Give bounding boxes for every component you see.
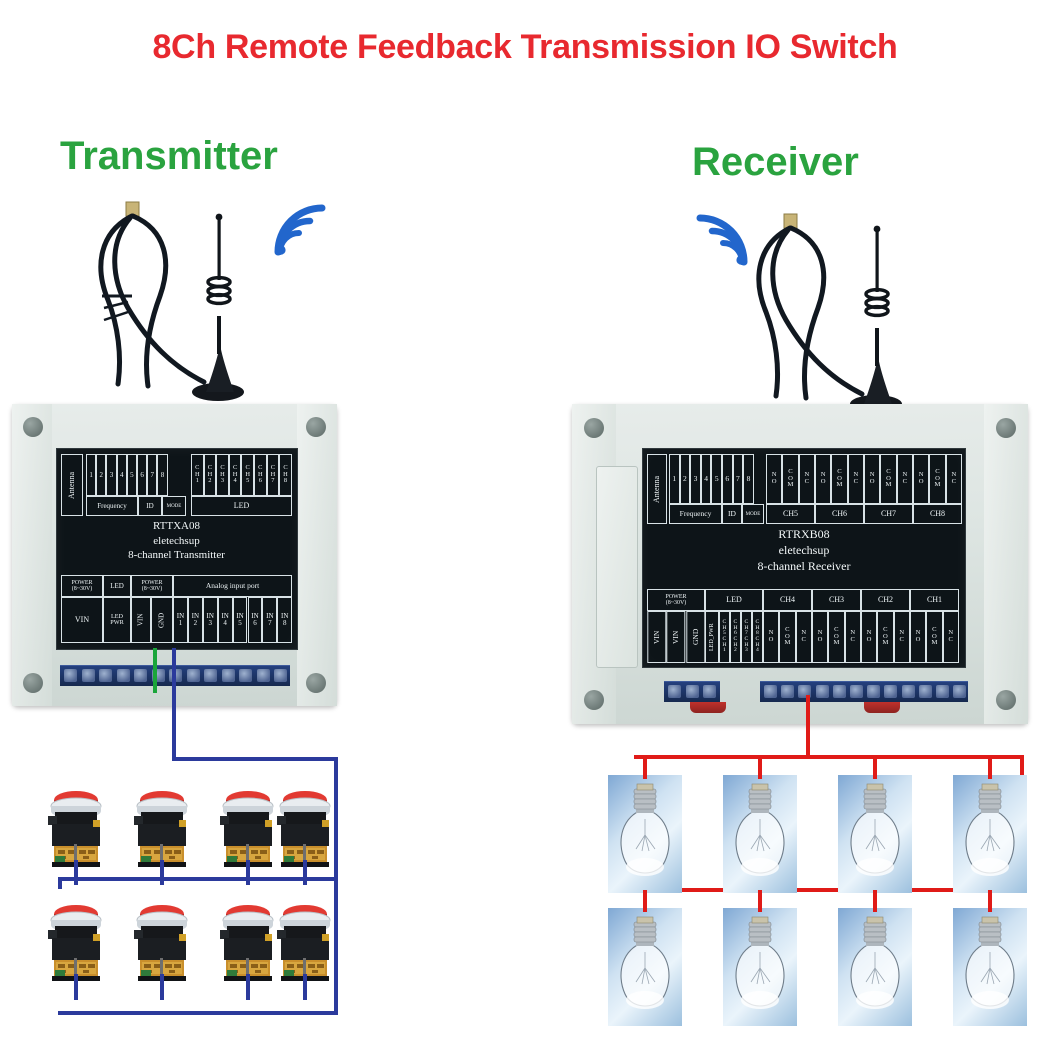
terminal-screw[interactable] [222,669,235,682]
terminal-screw[interactable] [867,685,880,698]
terminal-ch3-no[interactable]: NO [812,611,828,663]
led-indicator-CH1: CH1 [191,454,204,496]
side-vent [596,466,638,668]
transmitter-label-panel: Antenna12345678FrequencyIDMODECH1CH2CH3C… [56,448,298,650]
terminal-screw[interactable] [686,685,699,698]
led-indicator-CH7: CH7 [267,454,280,496]
bulb-drop-wire [988,890,992,912]
device-subtitle: 8-channel Receiver [647,559,961,575]
frequency-group: Frequency [86,496,138,516]
terminal-screw[interactable] [902,685,915,698]
terminal-screw[interactable] [850,685,863,698]
vendor-name: eletechsup [647,543,961,559]
dip-switch-8[interactable]: 8 [743,454,754,504]
terminal-screw[interactable] [953,685,966,698]
power-group: POWER(8~30V) [647,589,705,611]
input-bus-wire [172,757,338,761]
led-indicator-CH2: CH2 [204,454,217,496]
dip-switch-3[interactable]: 3 [106,454,116,496]
in1-wire [172,648,176,760]
terminal-ch6-no[interactable]: NO [815,454,831,504]
terminal-ch7-no[interactable]: NO [864,454,880,504]
terminal-in5[interactable]: IN5 [233,597,248,643]
bulb-drop-wire [758,890,762,912]
terminal-in7[interactable]: IN7 [262,597,277,643]
id-group: ID [138,496,162,516]
terminal-ch6-com[interactable]: COM [831,454,847,504]
receiver-model-block: RTRXB08eletechsup8-channel Receiver [647,527,961,574]
light-bulb [608,908,682,1026]
button-drop-wire [160,974,164,1000]
terminal-ch8-no[interactable]: NO [913,454,929,504]
terminal-ch5-nc[interactable]: NC [799,454,815,504]
terminal-ch2-no[interactable]: NO [861,611,877,663]
terminal-in4[interactable]: IN4 [218,597,233,643]
terminal-vin[interactable]: VIN [131,597,151,643]
channel-group-ch4: CH4 [763,589,812,611]
whip-antenna [78,196,268,406]
terminal-ch8-com[interactable]: COM [929,454,945,504]
relay-block [864,702,900,713]
mounting-hole [23,417,43,437]
mode-group: MODE [742,504,764,524]
terminal-ch4-no[interactable]: NO [763,611,779,663]
channel-group-ch8: CH8 [913,504,962,524]
led-power-group: LED [103,575,131,597]
terminal-ch1-com[interactable]: COM [926,611,942,663]
bulb-drop-wire [988,757,992,779]
terminal-ch3-nc[interactable]: NC [845,611,861,663]
terminal-ch4-nc[interactable]: NC [796,611,812,663]
button-drop-wire [74,974,78,1000]
mounting-hole [996,690,1016,710]
lamp-bus-top [634,755,1024,759]
button-bus-stub [58,877,62,889]
terminal-screw[interactable] [204,669,217,682]
button-drop-wire [246,974,250,1000]
terminal-gnd[interactable]: GND [686,611,705,663]
button-drop-wire [74,860,78,885]
terminal-ch7-com[interactable]: COM [880,454,896,504]
id-group: ID [722,504,742,524]
dip-switch-7[interactable]: 7 [733,454,744,504]
power-group-1: POWER(8~30V) [61,575,103,597]
mounting-hole [584,418,604,438]
terminal-ch8-nc[interactable]: NC [946,454,962,504]
whip-antenna [736,208,926,418]
led-pair-ch5-ch1: CH5CH1 [719,611,730,663]
channel-group-ch7: CH7 [864,504,913,524]
terminal-screw[interactable] [781,685,794,698]
terminal-screw[interactable] [64,669,77,682]
terminal-gnd[interactable]: GND [151,597,173,643]
terminal-ch3-com[interactable]: COM [828,611,844,663]
analog-input-group: Analog input port [173,575,292,597]
terminal-vin[interactable]: VIN [647,611,666,663]
button-row2-bus [58,1011,338,1015]
led-group: LED [705,589,763,611]
mounting-hole [996,418,1016,438]
receiver-device: Antenna12345678FrequencyIDMODENOCOMNCCH5… [572,404,1028,724]
terminal-in1[interactable]: IN1 [173,597,188,643]
power-group-2: POWER(8~30V) [131,575,173,597]
dip-switch-4[interactable]: 4 [117,454,127,496]
dip-switch-5[interactable]: 5 [711,454,722,504]
led-indicator-CH4: CH4 [229,454,242,496]
vendor-name: eletechsup [61,534,292,549]
terminal-screw[interactable] [117,669,130,682]
gnd-wire [153,648,157,693]
model-number: RTTXA08 [61,519,292,534]
button-drop-wire [246,860,250,885]
device-subtitle: 8-channel Transmitter [61,548,292,563]
bulb-drop-wire [758,757,762,779]
channel-group-ch6: CH6 [815,504,864,524]
model-number: RTRXB08 [647,527,961,543]
terminal-vin[interactable]: VIN [666,611,685,663]
light-bulb [838,775,912,893]
led-pair-ch6-ch2: CH6CH2 [730,611,741,663]
dip-switch-7[interactable]: 7 [147,454,157,496]
dip-switch-6[interactable]: 6 [722,454,733,504]
terminal-in6[interactable]: IN6 [248,597,263,643]
relay-block [690,702,726,713]
led-pair-ch8-ch4: CH8CH4 [752,611,763,663]
terminal-ch1-nc[interactable]: NC [943,611,959,663]
terminal-screw[interactable] [274,669,287,682]
transmitter-model-block: RTTXA08eletechsup8-channel Transmitter [61,519,292,563]
terminal-screw[interactable] [936,685,949,698]
channel-group-ch5: CH5 [766,504,815,524]
mounting-hole [306,417,326,437]
dip-switch-2[interactable]: 2 [96,454,106,496]
light-bulb [838,908,912,1026]
terminal-screw[interactable] [82,669,95,682]
button-drop-wire [160,860,164,885]
dip-switch-3[interactable]: 3 [690,454,701,504]
ch4-no-wire [806,695,810,757]
terminal-ch6-nc[interactable]: NC [848,454,864,504]
light-bulb [953,908,1027,1026]
dip-switch-4[interactable]: 4 [701,454,712,504]
terminal-vin[interactable]: VIN [61,597,103,643]
bulb-drop-wire [643,890,647,912]
antenna-label: Antenna [647,454,667,524]
bulb-drop-wire [873,757,877,779]
terminal-screw[interactable] [884,685,897,698]
terminal-in2[interactable]: IN2 [188,597,203,643]
led-group: LED [191,496,292,516]
dip-switch-1[interactable]: 1 [669,454,680,504]
terminal-screw[interactable] [99,669,112,682]
channel-group-ch2: CH2 [861,589,910,611]
transmitter-heading: Transmitter [60,134,278,179]
light-bulb [953,775,1027,893]
button-row1-bus [58,877,338,881]
led-indicator-CH3: CH3 [216,454,229,496]
dip-switch-6[interactable]: 6 [137,454,147,496]
frequency-group: Frequency [669,504,722,524]
terminal-screw[interactable] [833,685,846,698]
wifi-signal-icon [272,202,332,258]
terminal-ch2-nc[interactable]: NC [894,611,910,663]
dip-switch-1[interactable]: 1 [86,454,96,496]
light-bulb [723,775,797,893]
terminal-in3[interactable]: IN3 [203,597,218,643]
light-bulb [723,908,797,1026]
terminal-ch5-no[interactable]: NO [766,454,782,504]
terminal-ch5-com[interactable]: COM [782,454,798,504]
terminal-led-pwr[interactable]: LED_PWR [705,611,719,663]
terminal-screw[interactable] [134,669,147,682]
led-indicator-CH5: CH5 [241,454,254,496]
mounting-hole [306,673,326,693]
channel-group-ch3: CH3 [812,589,861,611]
button-drop-wire [303,974,307,1000]
button-drop-wire [303,860,307,885]
terminal-screw[interactable] [816,685,829,698]
led-indicator-CH8: CH8 [279,454,292,496]
terminal-screw[interactable] [703,685,716,698]
mounting-hole [23,673,43,693]
page-title: 8Ch Remote Feedback Transmission IO Swit… [0,28,1050,67]
bulb-drop-wire [873,890,877,912]
dip-switch-5[interactable]: 5 [127,454,137,496]
dip-switch-2[interactable]: 2 [680,454,691,504]
dip-switch-8[interactable]: 8 [157,454,167,496]
channel-group-ch1: CH1 [910,589,959,611]
terminal-ch2-com[interactable]: COM [877,611,893,663]
light-bulb [608,775,682,893]
receiver-heading: Receiver [692,140,859,185]
terminal-screw[interactable] [668,685,681,698]
terminal-ch1-no[interactable]: NO [910,611,926,663]
led-indicator-CH6: CH6 [254,454,267,496]
terminal-strip-power[interactable] [664,681,720,702]
terminal-screw[interactable] [919,685,932,698]
bulb-drop-wire [643,757,647,779]
mode-group: MODE [162,496,186,516]
terminal-screw[interactable] [239,669,252,682]
mounting-hole [584,690,604,710]
terminal-screw[interactable] [257,669,270,682]
terminal-led-pwr[interactable]: LEDPWR [103,597,131,643]
antenna-label: Antenna [61,454,83,516]
terminal-ch4-com[interactable]: COM [779,611,795,663]
terminal-strip-relays[interactable] [760,681,968,702]
led-pair-ch7-ch3: CH7CH3 [741,611,752,663]
receiver-label-panel: Antenna12345678FrequencyIDMODENOCOMNCCH5… [642,448,966,668]
terminal-screw[interactable] [764,685,777,698]
terminal-in8[interactable]: IN8 [277,597,292,643]
terminal-ch7-nc[interactable]: NC [897,454,913,504]
terminal-screw[interactable] [187,669,200,682]
